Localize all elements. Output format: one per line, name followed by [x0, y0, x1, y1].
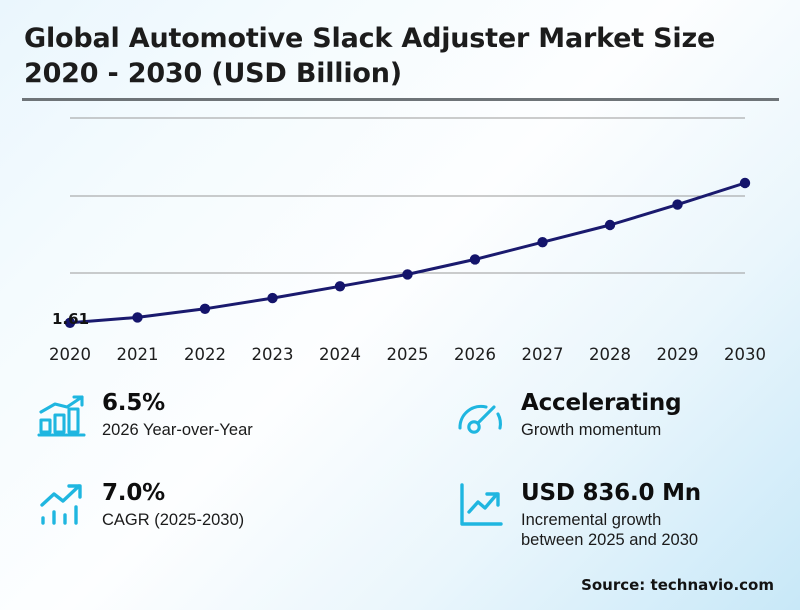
chart-canvas: [0, 105, 800, 360]
data-point: [672, 199, 682, 209]
x-axis-tick-label: 2028: [589, 345, 631, 364]
data-point: [402, 269, 412, 279]
line-chart-axis-icon: [455, 480, 507, 532]
chart-gridlines: [70, 118, 745, 273]
x-axis-tick-label: 2025: [387, 345, 429, 364]
x-axis-tick-label: 2024: [319, 345, 361, 364]
title-divider: [22, 98, 779, 101]
stat-text: 7.0% CAGR (2025-2030): [102, 480, 244, 530]
stats-grid: 6.5% 2026 Year-over-Year 7.0% CAGR (2025…: [0, 385, 800, 560]
x-axis-tick-label: 2029: [657, 345, 699, 364]
first-point-value-label: 1.61: [52, 310, 89, 328]
data-point: [267, 293, 277, 303]
chart-series-line: [70, 183, 745, 323]
stat-label: Incremental growth between 2025 and 2030: [521, 510, 701, 550]
infographic-page: Global Automotive Slack Adjuster Market …: [0, 0, 800, 610]
trending-up-bars-icon: [36, 480, 88, 532]
stat-card-momentum: Accelerating Growth momentum: [455, 390, 681, 442]
stat-card-cagr: 7.0% CAGR (2025-2030): [36, 480, 244, 532]
x-axis-labels: 2020202120222023202420252026202720282029…: [0, 345, 800, 371]
source-attribution: Source: technavio.com: [581, 576, 774, 594]
stat-card-yoy: 6.5% 2026 Year-over-Year: [36, 390, 253, 442]
speedometer-icon: [455, 390, 507, 442]
x-axis-tick-label: 2026: [454, 345, 496, 364]
stat-value: 6.5%: [102, 391, 253, 417]
data-point: [537, 237, 547, 247]
stat-value: USD 836.0 Mn: [521, 481, 701, 507]
header: Global Automotive Slack Adjuster Market …: [24, 22, 780, 91]
page-title: Global Automotive Slack Adjuster Market …: [24, 22, 780, 91]
x-axis-tick-label: 2022: [184, 345, 226, 364]
x-axis-tick-label: 2030: [724, 345, 766, 364]
x-axis-tick-label: 2023: [252, 345, 294, 364]
data-point: [605, 220, 615, 230]
data-point: [200, 304, 210, 314]
stat-label: Growth momentum: [521, 420, 681, 440]
line-chart: [0, 105, 800, 360]
stat-text: 6.5% 2026 Year-over-Year: [102, 390, 253, 440]
x-axis-tick-label: 2020: [49, 345, 91, 364]
data-point: [132, 312, 142, 322]
stat-value: 7.0%: [102, 481, 244, 507]
bar-chart-growth-icon: [36, 390, 88, 442]
stat-value: Accelerating: [521, 391, 681, 417]
stat-text: Accelerating Growth momentum: [521, 390, 681, 440]
data-point: [470, 254, 480, 264]
data-point: [740, 178, 750, 188]
x-axis-tick-label: 2021: [117, 345, 159, 364]
stat-label: CAGR (2025-2030): [102, 510, 244, 530]
stat-label: 2026 Year-over-Year: [102, 420, 253, 440]
chart-data-markers: [65, 178, 750, 328]
stat-text: USD 836.0 Mn Incremental growth between …: [521, 480, 701, 550]
data-point: [335, 281, 345, 291]
stat-card-incremental: USD 836.0 Mn Incremental growth between …: [455, 480, 701, 550]
x-axis-tick-label: 2027: [522, 345, 564, 364]
